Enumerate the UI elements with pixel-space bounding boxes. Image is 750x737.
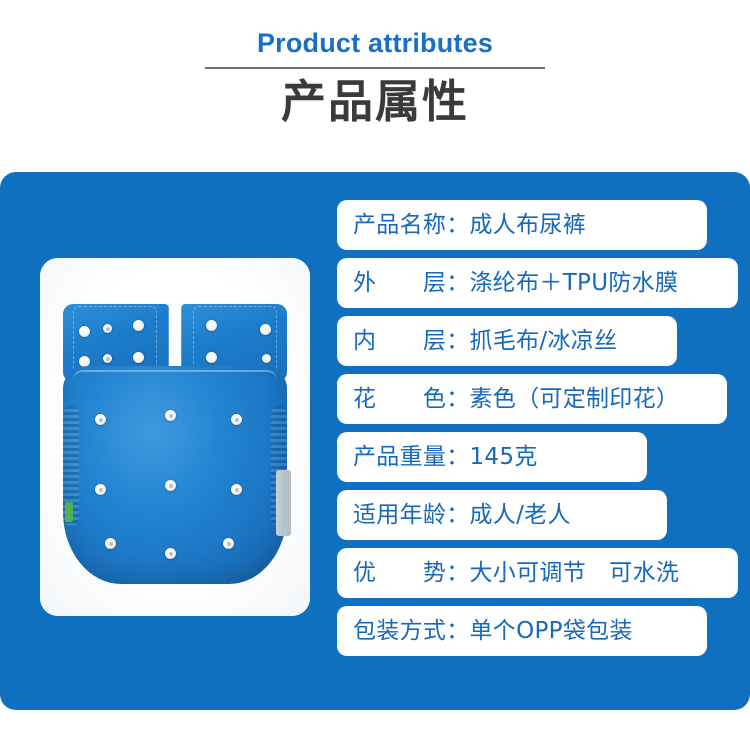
product-photo-card [40,258,310,616]
page-header: Product attributes 产品属性 [0,0,750,172]
diaper-snap [165,548,176,559]
attribute-text: 包装方式：单个OPP袋包装 [353,606,633,656]
attribute-text: 内 层：抓毛布/冰凉丝 [353,316,617,366]
diaper-body [63,366,287,584]
attribute-text: 外 层：涤纶布＋TPU防水膜 [353,258,678,308]
attribute-text: 产品名称：成人布尿裤 [353,200,586,250]
attribute-text: 花 色：素色（可定制印花） [353,374,679,424]
diaper-snap [133,320,144,331]
attribute-list: 产品名称：成人布尿裤 外 层：涤纶布＋TPU防水膜 内 层：抓毛布/冰凉丝 花 … [337,200,742,664]
diaper-snap [95,414,106,425]
page-title-chinese: 产品属性 [0,74,750,130]
diaper-waist-edge [73,370,277,380]
attribute-row-product-name: 产品名称：成人布尿裤 [337,200,707,250]
cloth-diaper-illustration [55,280,295,598]
diaper-snap [260,324,271,335]
attribute-row-advantages: 优 势：大小可调节 可水洗 [337,548,738,598]
diaper-snap [103,324,112,333]
diaper-snap [95,484,106,495]
attribute-row-inner-layer: 内 层：抓毛布/冰凉丝 [337,316,677,366]
product-photo [40,258,310,616]
attribute-text: 优 势：大小可调节 可水洗 [353,548,679,598]
attribute-text: 产品重量：145克 [353,432,538,482]
attribute-row-pattern-color: 花 色：素色（可定制印花） [337,374,727,424]
diaper-snap [262,354,271,363]
diaper-snap [206,320,217,331]
diaper-snap [133,352,144,363]
diaper-snap [165,410,176,421]
diaper-snap [231,484,242,495]
attribute-row-age-range: 适用年龄：成人/老人 [337,490,667,540]
header-divider [205,67,545,69]
diaper-snap [231,414,242,425]
diaper-care-tag [276,470,291,536]
diaper-snap [103,354,112,363]
diaper-snap [165,480,176,491]
attributes-panel: 产品名称：成人布尿裤 外 层：涤纶布＋TPU防水膜 内 层：抓毛布/冰凉丝 花 … [0,172,750,710]
attribute-text: 适用年龄：成人/老人 [353,490,571,540]
attribute-row-weight: 产品重量：145克 [337,432,647,482]
diaper-snap [79,326,90,337]
diaper-brand-tab [65,502,73,522]
page-title-english: Product attributes [0,27,750,59]
attribute-row-packaging: 包装方式：单个OPP袋包装 [337,606,707,656]
diaper-snap [223,538,234,549]
attribute-row-outer-layer: 外 层：涤纶布＋TPU防水膜 [337,258,738,308]
diaper-snap [206,352,217,363]
diaper-snap [105,538,116,549]
